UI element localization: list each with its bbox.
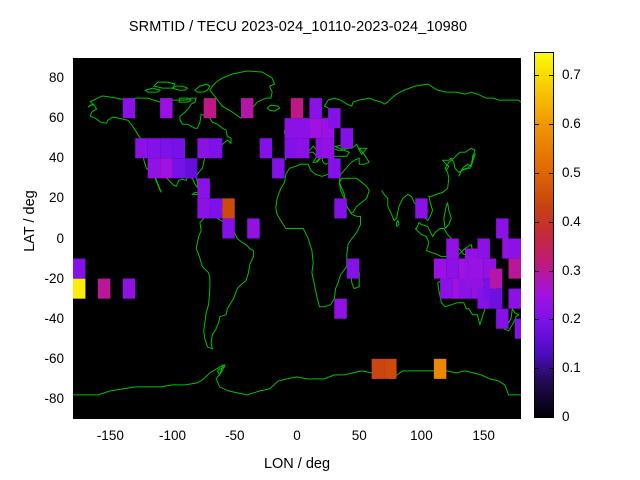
y-tick-label: -80 bbox=[20, 391, 64, 406]
heatmap-cell bbox=[285, 138, 297, 158]
heatmap-cell bbox=[309, 118, 321, 138]
heatmap-cell bbox=[210, 198, 222, 218]
x-tick-label: 150 bbox=[454, 428, 514, 443]
heatmap-cell bbox=[204, 98, 216, 118]
heatmap-cell bbox=[322, 138, 334, 158]
heatmap-cell bbox=[173, 158, 185, 178]
heatmap-cell bbox=[496, 309, 508, 329]
colorbar-tick-label: 0.3 bbox=[562, 263, 581, 278]
heatmap-cell bbox=[285, 118, 297, 138]
heatmap-cell bbox=[241, 98, 253, 118]
heatmap-cell bbox=[496, 218, 508, 238]
heatmap-cell bbox=[160, 98, 172, 118]
y-tick-label: 60 bbox=[20, 110, 64, 125]
heatmap-cell bbox=[173, 138, 185, 158]
colorbar-tick-label: 0.2 bbox=[562, 311, 581, 326]
heatmap-cell bbox=[210, 138, 222, 158]
heatmap-cell bbox=[334, 299, 346, 319]
heatmap-cell bbox=[328, 108, 340, 128]
colorbar-tick-label: 0.4 bbox=[562, 214, 581, 229]
heatmap-cell bbox=[247, 218, 259, 238]
heatmap-plot-area bbox=[73, 58, 521, 419]
x-tick-label: 100 bbox=[391, 428, 451, 443]
heatmap-cell bbox=[328, 158, 340, 178]
x-tick-label: -100 bbox=[143, 428, 203, 443]
y-tick-label: 80 bbox=[20, 70, 64, 85]
y-tick-label: 20 bbox=[20, 190, 64, 205]
colorbar-tick-label: 0.1 bbox=[562, 360, 581, 375]
heatmap-cell bbox=[509, 259, 521, 279]
heatmap-cell bbox=[490, 269, 502, 289]
heatmap-cell bbox=[440, 279, 452, 299]
colorbar-tick-label: 0.5 bbox=[562, 165, 581, 180]
data-cells-layer bbox=[73, 58, 521, 419]
heatmap-cell bbox=[471, 259, 483, 279]
heatmap-cell bbox=[222, 218, 234, 238]
y-tick-label: -20 bbox=[20, 271, 64, 286]
y-tick-label: -60 bbox=[20, 351, 64, 366]
heatmap-cell bbox=[490, 289, 502, 309]
x-tick-label: 0 bbox=[267, 428, 327, 443]
heatmap-cell bbox=[434, 359, 446, 379]
colorbar-tick-label: 0.6 bbox=[562, 116, 581, 131]
heatmap-cell bbox=[297, 118, 309, 138]
colorbar bbox=[534, 52, 554, 418]
heatmap-cell bbox=[222, 198, 234, 218]
y-tick-label: 0 bbox=[20, 231, 64, 246]
colorbar-gradient bbox=[535, 53, 553, 417]
page-title: SRMTID / TECU 2023-024_10110-2023-024_10… bbox=[0, 19, 596, 35]
heatmap-cell bbox=[515, 319, 521, 339]
heatmap-cell bbox=[73, 279, 85, 299]
heatmap-cell bbox=[446, 239, 458, 259]
heatmap-cell bbox=[341, 128, 353, 148]
y-tick-label: -40 bbox=[20, 311, 64, 326]
heatmap-cell bbox=[197, 138, 209, 158]
heatmap-cell bbox=[73, 259, 85, 279]
heatmap-cell bbox=[197, 178, 209, 198]
heatmap-cell bbox=[434, 259, 446, 279]
heatmap-cell bbox=[272, 158, 284, 178]
x-tick-label: -150 bbox=[80, 428, 140, 443]
heatmap-cell bbox=[372, 359, 384, 379]
heatmap-cell bbox=[415, 198, 427, 218]
heatmap-cell bbox=[135, 138, 147, 158]
heatmap-cell bbox=[291, 98, 303, 118]
heatmap-cell bbox=[160, 138, 172, 158]
heatmap-cell bbox=[297, 138, 309, 158]
heatmap-cell bbox=[446, 259, 458, 279]
heatmap-cell bbox=[98, 279, 110, 299]
figure-canvas: SRMTID / TECU 2023-024_10110-2023-024_10… bbox=[0, 0, 640, 480]
x-tick-label: -50 bbox=[205, 428, 265, 443]
heatmap-cell bbox=[148, 138, 160, 158]
heatmap-cell bbox=[185, 158, 197, 178]
x-axis-label: LON / deg bbox=[73, 456, 521, 472]
heatmap-cell bbox=[260, 138, 272, 158]
heatmap-cell bbox=[197, 198, 209, 218]
heatmap-cell bbox=[123, 279, 135, 299]
heatmap-cell bbox=[148, 158, 160, 178]
heatmap-cell bbox=[309, 98, 321, 118]
heatmap-cell bbox=[160, 158, 172, 178]
colorbar-tick-label: 0.7 bbox=[562, 67, 581, 82]
heatmap-cell bbox=[334, 198, 346, 218]
colorbar-tick-label: 0 bbox=[562, 409, 570, 424]
heatmap-cell bbox=[477, 239, 489, 259]
heatmap-cell bbox=[384, 359, 396, 379]
x-tick-label: 50 bbox=[329, 428, 389, 443]
heatmap-cell bbox=[509, 239, 521, 259]
heatmap-cell bbox=[509, 289, 521, 309]
heatmap-cell bbox=[347, 259, 359, 279]
heatmap-cell bbox=[123, 98, 135, 118]
y-tick-label: 40 bbox=[20, 150, 64, 165]
